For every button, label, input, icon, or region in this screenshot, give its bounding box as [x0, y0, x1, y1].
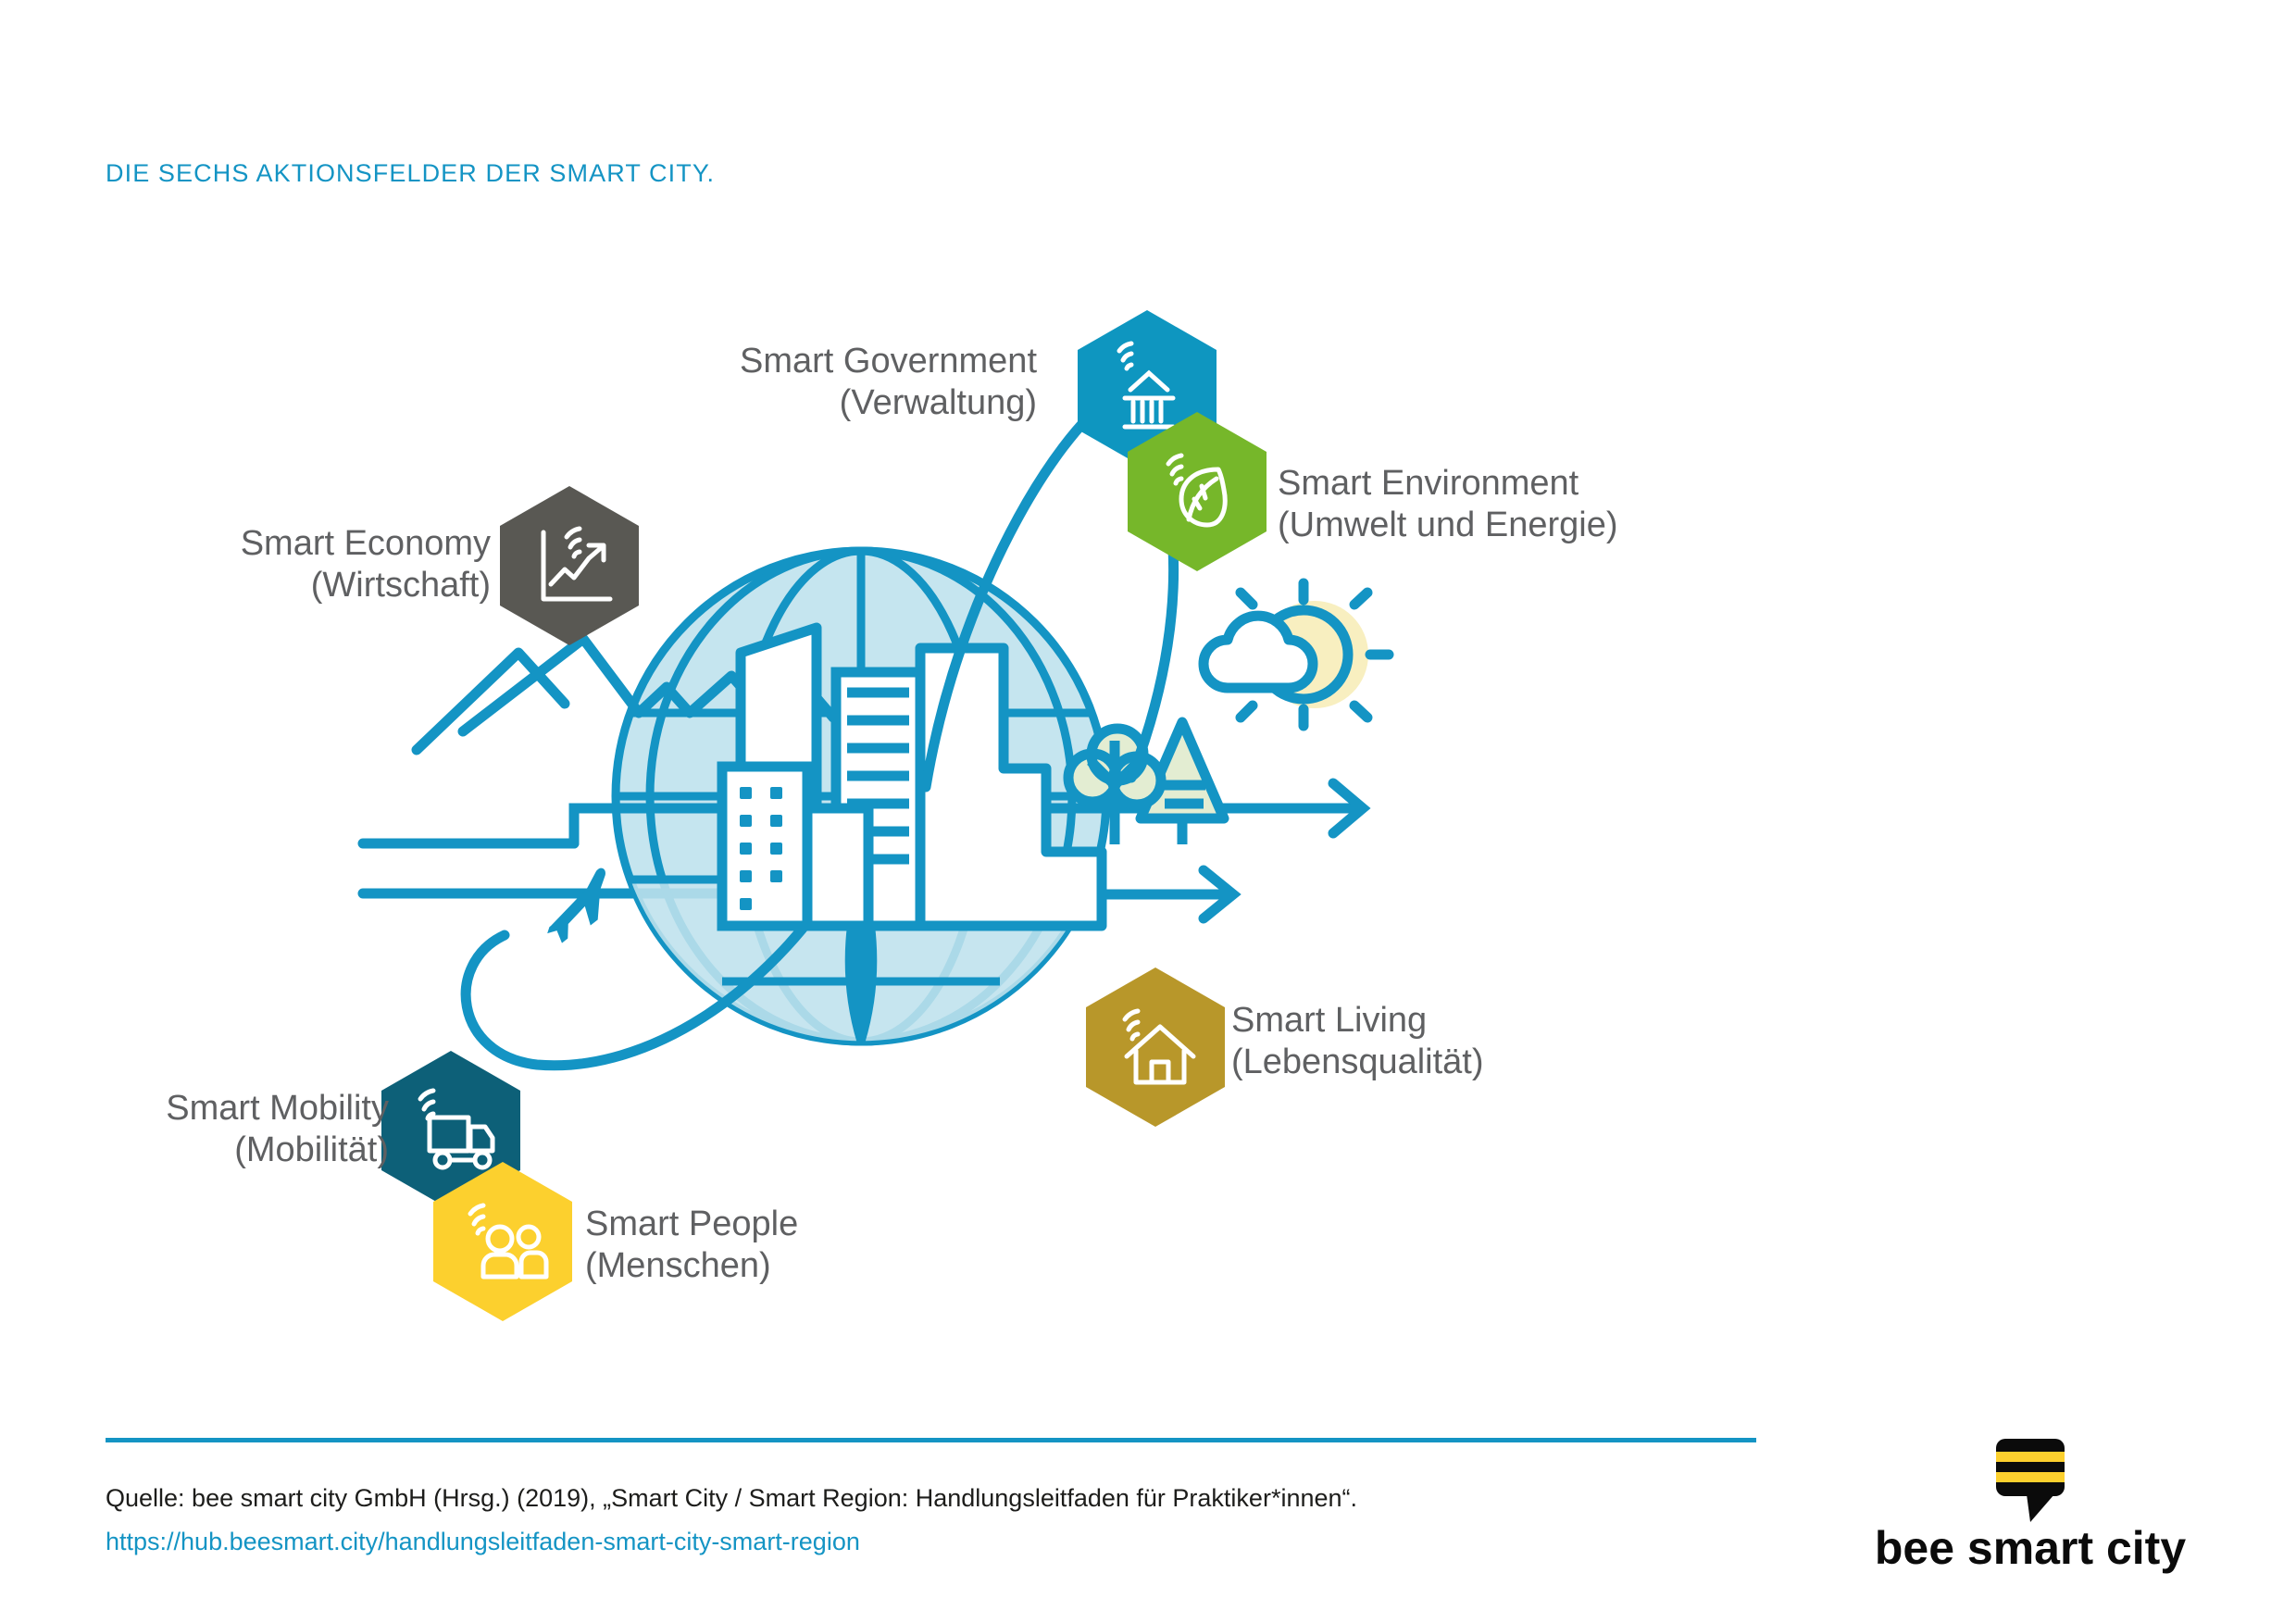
label-smart-people-en: Smart People: [585, 1205, 798, 1243]
hexagon-smart-environment[interactable]: [1128, 412, 1267, 571]
label-smart-economy-de: (Wirtschaft): [56, 565, 491, 606]
smart-city-illustration: [0, 0, 2296, 1618]
label-smart-government-de: (Verwaltung): [518, 382, 1037, 424]
airplane-icon: [535, 867, 626, 950]
label-smart-mobility-en: Smart Mobility: [166, 1089, 389, 1128]
label-smart-government: Smart Government (Verwaltung): [518, 341, 1037, 424]
source-citation: Quelle: bee smart city GmbH (Hrsg.) (201…: [106, 1484, 1357, 1513]
source-url-link[interactable]: https://hub.beesmart.city/handlungsleitf…: [106, 1528, 860, 1556]
sun-cloud-icon: [1204, 583, 1389, 726]
hexagon-smart-people[interactable]: [433, 1162, 572, 1321]
hexagon-shape: [1086, 968, 1225, 1127]
bee-speech-bubble-icon: [1996, 1439, 2065, 1522]
label-smart-economy-en: Smart Economy: [241, 524, 491, 563]
hexagon-smart-living[interactable]: [1086, 968, 1225, 1127]
label-smart-government-en: Smart Government: [740, 342, 1037, 381]
label-smart-economy: Smart Economy (Wirtschaft): [56, 523, 491, 606]
hexagon-shape: [1128, 412, 1267, 571]
logo-wordmark: bee smart city: [1875, 1522, 2186, 1574]
hexagon-shape: [500, 486, 639, 645]
label-smart-people: Smart People (Menschen): [585, 1204, 798, 1287]
label-smart-mobility-de: (Mobilität): [0, 1130, 389, 1171]
label-smart-environment-de: (Umwelt und Energie): [1278, 505, 1617, 546]
footer-divider: [106, 1438, 1756, 1442]
label-smart-living: Smart Living (Lebensqualität): [1231, 1000, 1484, 1083]
label-smart-mobility: Smart Mobility (Mobilität): [0, 1088, 389, 1171]
diagram-canvas: Smart Government (Verwaltung) Smart Envi…: [0, 0, 2296, 1618]
label-smart-people-de: (Menschen): [585, 1245, 798, 1287]
hexagon-smart-economy[interactable]: [500, 486, 639, 645]
label-smart-environment: Smart Environment (Umwelt und Energie): [1278, 463, 1617, 546]
bee-smart-city-logo[interactable]: bee smart city: [1845, 1437, 2215, 1576]
label-smart-living-de: (Lebensqualität): [1231, 1042, 1484, 1083]
label-smart-environment-en: Smart Environment: [1278, 464, 1578, 503]
label-smart-living-en: Smart Living: [1231, 1001, 1427, 1040]
hexagon-shape: [433, 1162, 572, 1321]
